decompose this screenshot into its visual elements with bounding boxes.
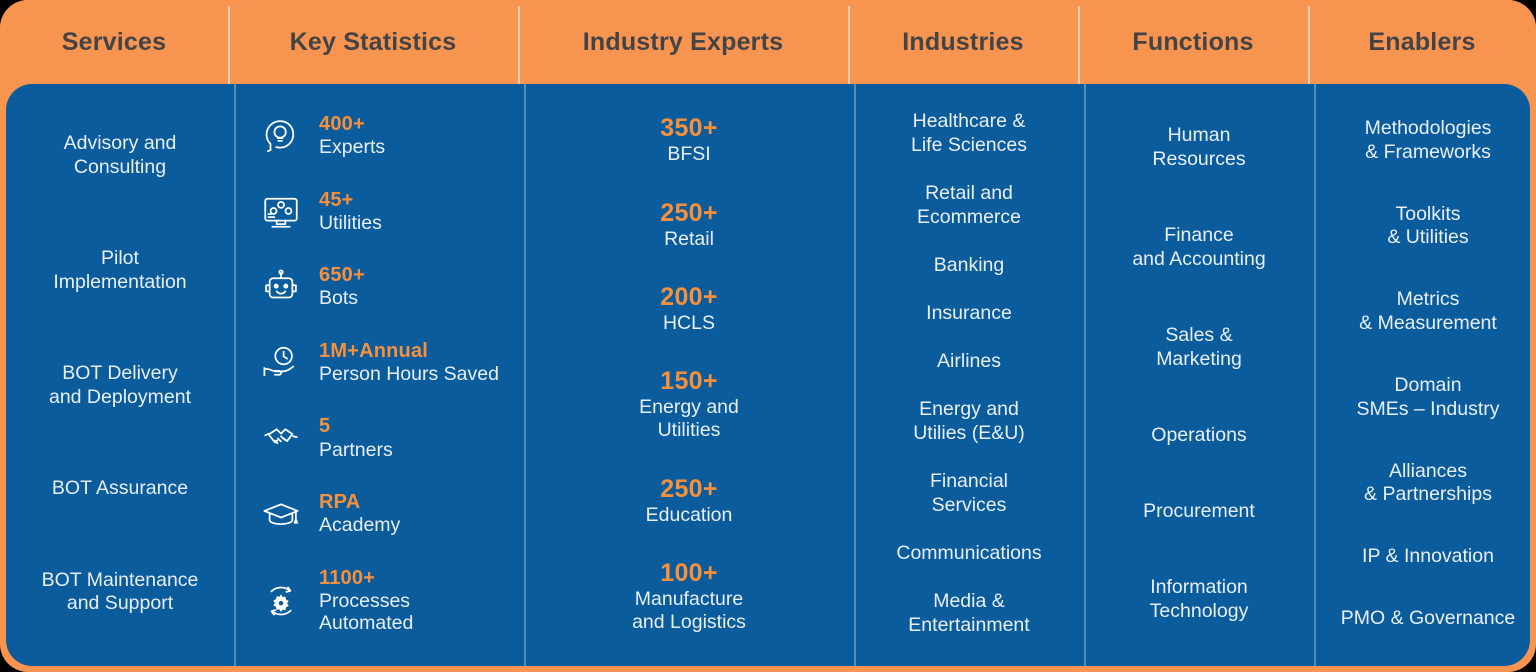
column-services: Advisory and Consulting Pilot Implementa… bbox=[6, 84, 234, 666]
expert-label: Education bbox=[646, 504, 733, 527]
stat-value: 400+ bbox=[319, 113, 385, 136]
column-enablers: Methodologies & Frameworks Toolkits & Ut… bbox=[1314, 84, 1530, 666]
list-item[interactable]: Methodologies & Frameworks bbox=[1365, 117, 1492, 165]
list-item[interactable]: Toolkits & Utilities bbox=[1387, 203, 1468, 251]
column-functions: Human Resources Finance and Accounting S… bbox=[1084, 84, 1314, 666]
expert-value: 250+ bbox=[646, 474, 733, 504]
expert-stat[interactable]: 250+ Retail bbox=[660, 198, 718, 251]
list-item[interactable]: Advisory and Consulting bbox=[64, 132, 177, 180]
stat-row[interactable]: 1100+ Processes Automated bbox=[245, 567, 513, 635]
column-industry-experts: 350+ BFSI 250+ Retail 200+ HCLS 150+ Ene… bbox=[524, 84, 854, 666]
stat-label: Partners bbox=[319, 439, 393, 462]
hand-clock-icon bbox=[259, 341, 303, 385]
stat-value: 45+ bbox=[319, 189, 382, 212]
stat-label: Utilities bbox=[319, 212, 382, 235]
column-header-services[interactable]: Services bbox=[0, 0, 228, 84]
list-item[interactable]: BOT Assurance bbox=[52, 477, 188, 501]
expert-stat[interactable]: 100+ Manufacture and Logistics bbox=[632, 558, 746, 635]
robot-icon bbox=[259, 265, 303, 309]
stat-value: RPA bbox=[319, 491, 400, 514]
stat-row[interactable]: 650+ Bots bbox=[245, 264, 513, 310]
capability-matrix-board: Services Key Statistics Industry Experts… bbox=[0, 0, 1536, 672]
stat-value: 1M+Annual bbox=[319, 340, 499, 363]
expert-stat[interactable]: 250+ Education bbox=[646, 474, 733, 527]
column-header-enablers[interactable]: Enablers bbox=[1308, 0, 1536, 84]
stat-label: Processes Automated bbox=[319, 590, 413, 635]
list-item[interactable]: Domain SMEs – Industry bbox=[1356, 374, 1499, 422]
expert-label: Manufacture and Logistics bbox=[632, 588, 746, 635]
list-item[interactable]: Sales & Marketing bbox=[1156, 324, 1242, 372]
list-item[interactable]: IP & Innovation bbox=[1362, 545, 1494, 569]
body-row: Advisory and Consulting Pilot Implementa… bbox=[6, 84, 1530, 666]
list-item[interactable]: Finance and Accounting bbox=[1132, 224, 1265, 272]
graduation-cap-icon bbox=[259, 492, 303, 536]
list-item[interactable]: Human Resources bbox=[1152, 124, 1245, 172]
stat-label: Experts bbox=[319, 136, 385, 159]
column-header-key-statistics[interactable]: Key Statistics bbox=[228, 0, 518, 84]
list-item[interactable]: Financial Services bbox=[930, 470, 1008, 518]
list-item[interactable]: Communications bbox=[896, 542, 1041, 566]
list-item[interactable]: Alliances & Partnerships bbox=[1364, 460, 1492, 508]
column-industries: Healthcare & Life Sciences Retail and Ec… bbox=[854, 84, 1084, 666]
expert-label: Energy and Utilities bbox=[639, 396, 739, 443]
expert-value: 200+ bbox=[660, 282, 718, 312]
list-item[interactable]: Pilot Implementation bbox=[53, 247, 186, 295]
column-key-statistics: 400+ Experts 45+ Ut bbox=[234, 84, 524, 666]
list-item[interactable]: Healthcare & Life Sciences bbox=[911, 110, 1027, 158]
stat-row[interactable]: 5 Partners bbox=[245, 415, 513, 461]
expert-stat[interactable]: 150+ Energy and Utilities bbox=[639, 366, 739, 443]
list-item[interactable]: Retail and Ecommerce bbox=[917, 182, 1021, 230]
list-item[interactable]: Insurance bbox=[926, 302, 1012, 326]
list-item[interactable]: Procurement bbox=[1143, 500, 1255, 524]
expert-label: HCLS bbox=[660, 312, 718, 335]
stat-row[interactable]: RPA Academy bbox=[245, 491, 513, 537]
list-item[interactable]: BOT Delivery and Deployment bbox=[49, 362, 191, 410]
list-item[interactable]: Airlines bbox=[937, 350, 1001, 374]
stat-label: Bots bbox=[319, 287, 365, 310]
expert-stat[interactable]: 200+ HCLS bbox=[660, 282, 718, 335]
expert-value: 150+ bbox=[639, 366, 739, 396]
expert-value: 350+ bbox=[660, 113, 718, 143]
expert-stat[interactable]: 350+ BFSI bbox=[660, 113, 718, 166]
expert-value: 250+ bbox=[660, 198, 718, 228]
stat-row[interactable]: 1M+Annual Person Hours Saved bbox=[245, 340, 513, 386]
head-lightbulb-icon bbox=[259, 114, 303, 158]
expert-label: BFSI bbox=[660, 143, 718, 166]
header-row: Services Key Statistics Industry Experts… bbox=[0, 0, 1536, 84]
stat-value: 1100+ bbox=[319, 567, 413, 590]
gear-refresh-icon bbox=[259, 579, 303, 623]
handshake-icon bbox=[259, 416, 303, 460]
expert-value: 100+ bbox=[632, 558, 746, 588]
stat-label: Person Hours Saved bbox=[319, 363, 499, 386]
column-header-functions[interactable]: Functions bbox=[1078, 0, 1308, 84]
list-item[interactable]: PMO & Governance bbox=[1341, 607, 1516, 631]
stat-row[interactable]: 45+ Utilities bbox=[245, 189, 513, 235]
list-item[interactable]: Information Technology bbox=[1150, 576, 1249, 624]
stat-label: Academy bbox=[319, 514, 400, 537]
list-item[interactable]: Metrics & Measurement bbox=[1359, 288, 1497, 336]
column-header-industries[interactable]: Industries bbox=[848, 0, 1078, 84]
expert-label: Retail bbox=[660, 228, 718, 251]
stat-value: 5 bbox=[319, 415, 393, 438]
column-header-industry-experts[interactable]: Industry Experts bbox=[518, 0, 848, 84]
list-item[interactable]: Banking bbox=[934, 254, 1004, 278]
list-item[interactable]: Operations bbox=[1151, 424, 1246, 448]
stat-value: 650+ bbox=[319, 264, 365, 287]
list-item[interactable]: Energy and Utilies (E&U) bbox=[913, 398, 1025, 446]
monitor-users-icon bbox=[259, 189, 303, 233]
stat-row[interactable]: 400+ Experts bbox=[245, 113, 513, 159]
list-item[interactable]: BOT Maintenance and Support bbox=[42, 569, 199, 617]
list-item[interactable]: Media & Entertainment bbox=[908, 590, 1029, 638]
